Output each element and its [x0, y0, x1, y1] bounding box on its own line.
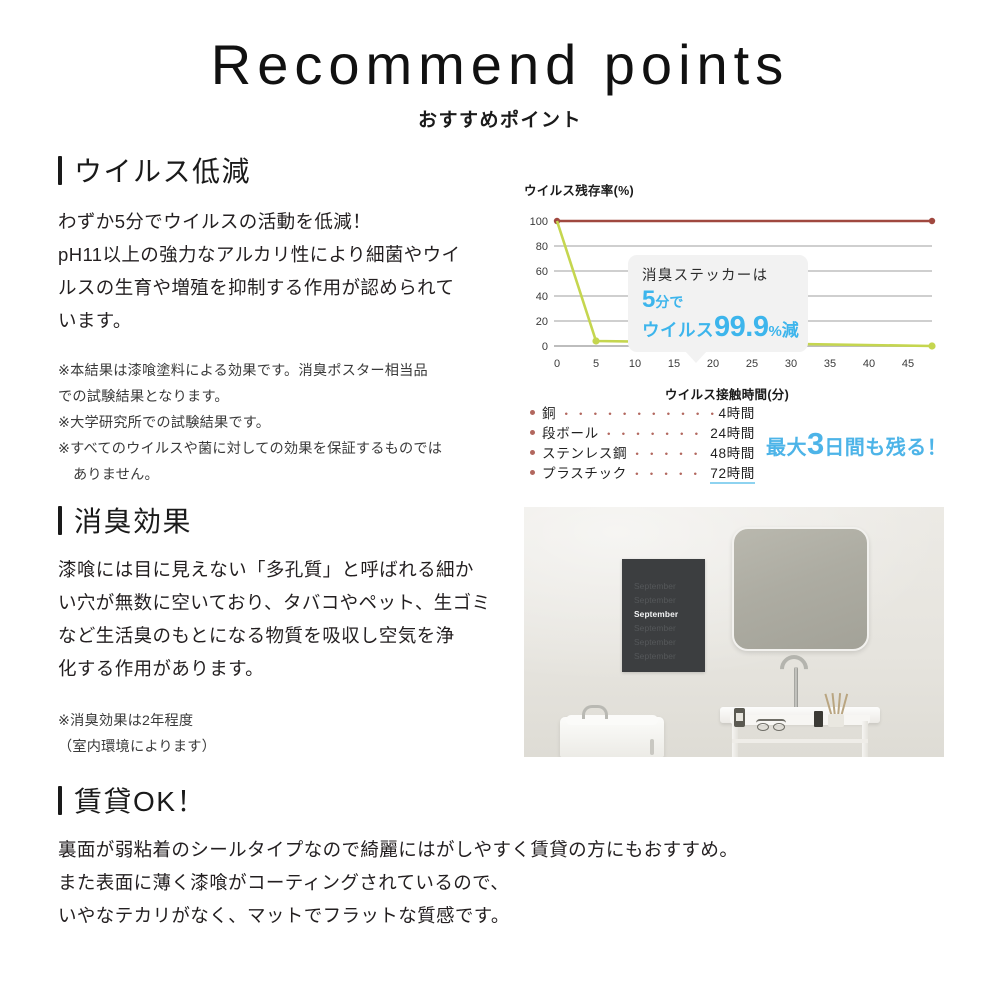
- max-duration-banner: 最大3日間も残る！: [766, 428, 947, 459]
- legend-label: プラスチック: [542, 462, 627, 482]
- body-line: 化する作用があります。: [58, 653, 510, 686]
- banner-prefix: 最大: [766, 437, 807, 459]
- page-subtitle: おすすめポイント: [0, 105, 1000, 132]
- body-line: 裏面が弱粘着のシールタイプなので綺麗にはがしやすく賃貸の方にもおすすめ。: [58, 834, 918, 867]
- banner-number: 3: [807, 426, 824, 461]
- toilet-handle: [650, 739, 654, 755]
- toilet-lid: [566, 715, 658, 725]
- legend-dot-icon: [530, 410, 535, 415]
- callout-line-3: ウイルス99.9%減: [642, 313, 796, 342]
- section-body: 裏面が弱粘着のシールタイプなので綺麗にはがしやすく賃貸の方にもおすすめ。 また表…: [58, 834, 918, 933]
- svg-text:15: 15: [668, 358, 680, 370]
- diffuser-bottle: [814, 711, 823, 727]
- callout-virus-word: ウイルス: [642, 320, 714, 340]
- svg-text:60: 60: [536, 266, 548, 278]
- legend-value: 72時間: [710, 462, 755, 484]
- legend-item: 銅 ・・・・・・・・・・・ 4時間: [530, 402, 755, 422]
- heading-accent-bar: [58, 506, 62, 535]
- legend-dot-icon: [530, 450, 535, 455]
- section-heading: ウイルス低減: [58, 150, 510, 190]
- vanity-basin: [730, 715, 870, 725]
- callout-minutes-unit: 分: [655, 294, 669, 310]
- amber-bottle: [734, 708, 745, 727]
- legend-label: 段ボール: [542, 422, 599, 442]
- body-line: また表面に薄く漆喰がコーティングされているので、: [58, 867, 918, 900]
- note-line: での試験結果となります。: [58, 384, 510, 410]
- note-line: ありません。: [58, 462, 510, 488]
- bathroom-photo: September September September September …: [524, 507, 944, 757]
- callout-reduce-word: 減: [782, 321, 799, 340]
- svg-text:40: 40: [536, 291, 548, 303]
- toilet: [560, 711, 664, 757]
- chart-x-ticks: 0 5 10 15 20 25 30 35 40 45: [554, 358, 914, 370]
- body-line: い穴が無数に空いており、タバコやペット、生ゴミ: [58, 587, 510, 620]
- svg-text:100: 100: [530, 216, 548, 228]
- legend-leader-dots: ・・・・・: [631, 445, 706, 462]
- page-header: Recommend points おすすめポイント: [0, 0, 1000, 132]
- legend-leader-dots: ・・・・・・・・: [603, 425, 707, 442]
- callout-line-2: 5分で: [642, 287, 796, 312]
- poster-line-active: September: [634, 609, 678, 619]
- svg-text:25: 25: [746, 358, 758, 370]
- section-notes: ※消臭効果は2年程度 （室内環境によります）: [58, 708, 510, 760]
- body-line: ルスの生育や増殖を抑制する作用が認められて: [58, 272, 510, 305]
- chart-point: [928, 342, 935, 349]
- section-heading: 消臭効果: [58, 500, 510, 540]
- chart-point: [929, 218, 935, 224]
- poster-line: September: [634, 595, 676, 605]
- svg-text:0: 0: [542, 341, 548, 353]
- poster-line: September: [634, 581, 676, 591]
- legend-item: プラスチック ・・・・・ 72時間: [530, 462, 755, 482]
- note-line: ※消臭効果は2年程度: [58, 708, 510, 734]
- legend-leader-dots: ・・・・・・・・・・・: [560, 405, 714, 422]
- section-body: わずか5分でウイルスの活動を低減！ pH11以上の強力なアルカリ性により細菌やウ…: [58, 206, 510, 338]
- body-line: わずか5分でウイルスの活動を低減！: [58, 206, 510, 239]
- chart-callout: 消臭ステッカーは 5分で ウイルス99.9%減: [628, 255, 808, 352]
- svg-text:0: 0: [554, 358, 560, 370]
- poster-line: September: [634, 651, 676, 661]
- section-title: 賃貸OK！: [74, 780, 206, 820]
- virus-survival-chart: ウイルス残存率(%) 100 80 60 40 20 0: [524, 180, 944, 403]
- legend-dot-icon: [530, 470, 535, 475]
- eyeglasses: [756, 719, 786, 727]
- legend-value: 24時間: [710, 422, 755, 442]
- callout-percent-sign: %: [768, 323, 781, 340]
- note-line: ※すべてのウイルスや菌に対しての効果を保証するものでは: [58, 436, 510, 462]
- body-line: pH11以上の強力なアルカリ性により細菌やウイ: [58, 239, 510, 272]
- legend-value: 48時間: [710, 442, 755, 462]
- legend-item: ステンレス鋼 ・・・・・ 48時間: [530, 442, 755, 462]
- svg-text:5: 5: [593, 358, 599, 370]
- section-heading: 賃貸OK！: [58, 780, 918, 820]
- section-rental-ok: 賃貸OK！ 裏面が弱粘着のシールタイプなので綺麗にはがしやすく賃貸の方にもおすす…: [58, 780, 918, 933]
- chart-point: [592, 337, 599, 344]
- section-body: 漆喰には目に見えない「多孔質」と呼ばれる細か い穴が無数に空いており、タバコやペ…: [58, 554, 510, 686]
- page-title: Recommend points: [0, 34, 1000, 97]
- svg-text:30: 30: [785, 358, 797, 370]
- callout-percent-number: 99.9: [714, 311, 768, 343]
- svg-text:45: 45: [902, 358, 914, 370]
- material-survival-legend: 銅 ・・・・・・・・・・・ 4時間 段ボール ・・・・・・・・ 24時間 ステン…: [530, 402, 755, 482]
- legend-value: 4時間: [718, 402, 755, 422]
- note-line: （室内環境によります）: [58, 734, 510, 760]
- svg-text:20: 20: [707, 358, 719, 370]
- svg-text:80: 80: [536, 241, 548, 253]
- heading-accent-bar: [58, 786, 62, 815]
- chart-x-axis-label: ウイルス接触時間(分): [524, 384, 944, 403]
- section-deodorizing-effect: 消臭効果 漆喰には目に見えない「多孔質」と呼ばれる細か い穴が無数に空いており、…: [58, 500, 510, 760]
- callout-line-1: 消臭ステッカーは: [642, 264, 796, 285]
- legend-label: ステンレス鋼: [542, 442, 627, 462]
- poster-line: September: [634, 623, 676, 633]
- svg-text:35: 35: [824, 358, 836, 370]
- legend-label: 銅: [542, 402, 556, 422]
- legend-dot-icon: [530, 430, 535, 435]
- svg-text:20: 20: [536, 316, 548, 328]
- note-line: ※大学研究所での試験結果です。: [58, 410, 510, 436]
- chart-y-ticks: 100 80 60 40 20 0: [530, 216, 548, 353]
- toilet-faucet: [582, 705, 608, 719]
- legend-leader-dots: ・・・・・: [631, 465, 706, 482]
- section-notes: ※本結果は漆喰塗料による効果です。消臭ポスター相当品 での試験結果となります。 …: [58, 358, 510, 489]
- poster-line: September: [634, 637, 676, 647]
- banner-suffix: 日間も残る！: [824, 437, 947, 459]
- chart-plot-area: 100 80 60 40 20 0 0 5 10 15 20 25 30 35 …: [524, 207, 944, 377]
- body-line: 漆喰には目に見えない「多孔質」と呼ばれる細か: [58, 554, 510, 587]
- body-line: など生活臭のもとになる物質を吸収し空気を浄: [58, 620, 510, 653]
- section-title: 消臭効果: [74, 500, 192, 540]
- body-line: いやなテカリがなく、マットでフラットな質感です。: [58, 900, 918, 933]
- callout-minutes-tail: で: [669, 294, 683, 310]
- reed-diffuser: [828, 693, 844, 727]
- september-poster: September September September September …: [622, 559, 705, 672]
- section-virus-reduction: ウイルス低減 わずか5分でウイルスの活動を低減！ pH11以上の強力なアルカリ性…: [58, 150, 510, 488]
- vanity-rail: [732, 739, 868, 743]
- svg-text:40: 40: [863, 358, 875, 370]
- body-line: います。: [58, 305, 510, 338]
- chart-y-axis-label: ウイルス残存率(%): [524, 180, 944, 199]
- note-line: ※本結果は漆喰塗料による効果です。消臭ポスター相当品: [58, 358, 510, 384]
- legend-item: 段ボール ・・・・・・・・ 24時間: [530, 422, 755, 442]
- wall-mirror: [732, 527, 869, 651]
- section-title: ウイルス低減: [74, 150, 251, 190]
- sink-faucet: [794, 667, 798, 711]
- heading-accent-bar: [58, 156, 62, 185]
- svg-text:10: 10: [629, 358, 641, 370]
- callout-minutes-number: 5: [642, 286, 655, 313]
